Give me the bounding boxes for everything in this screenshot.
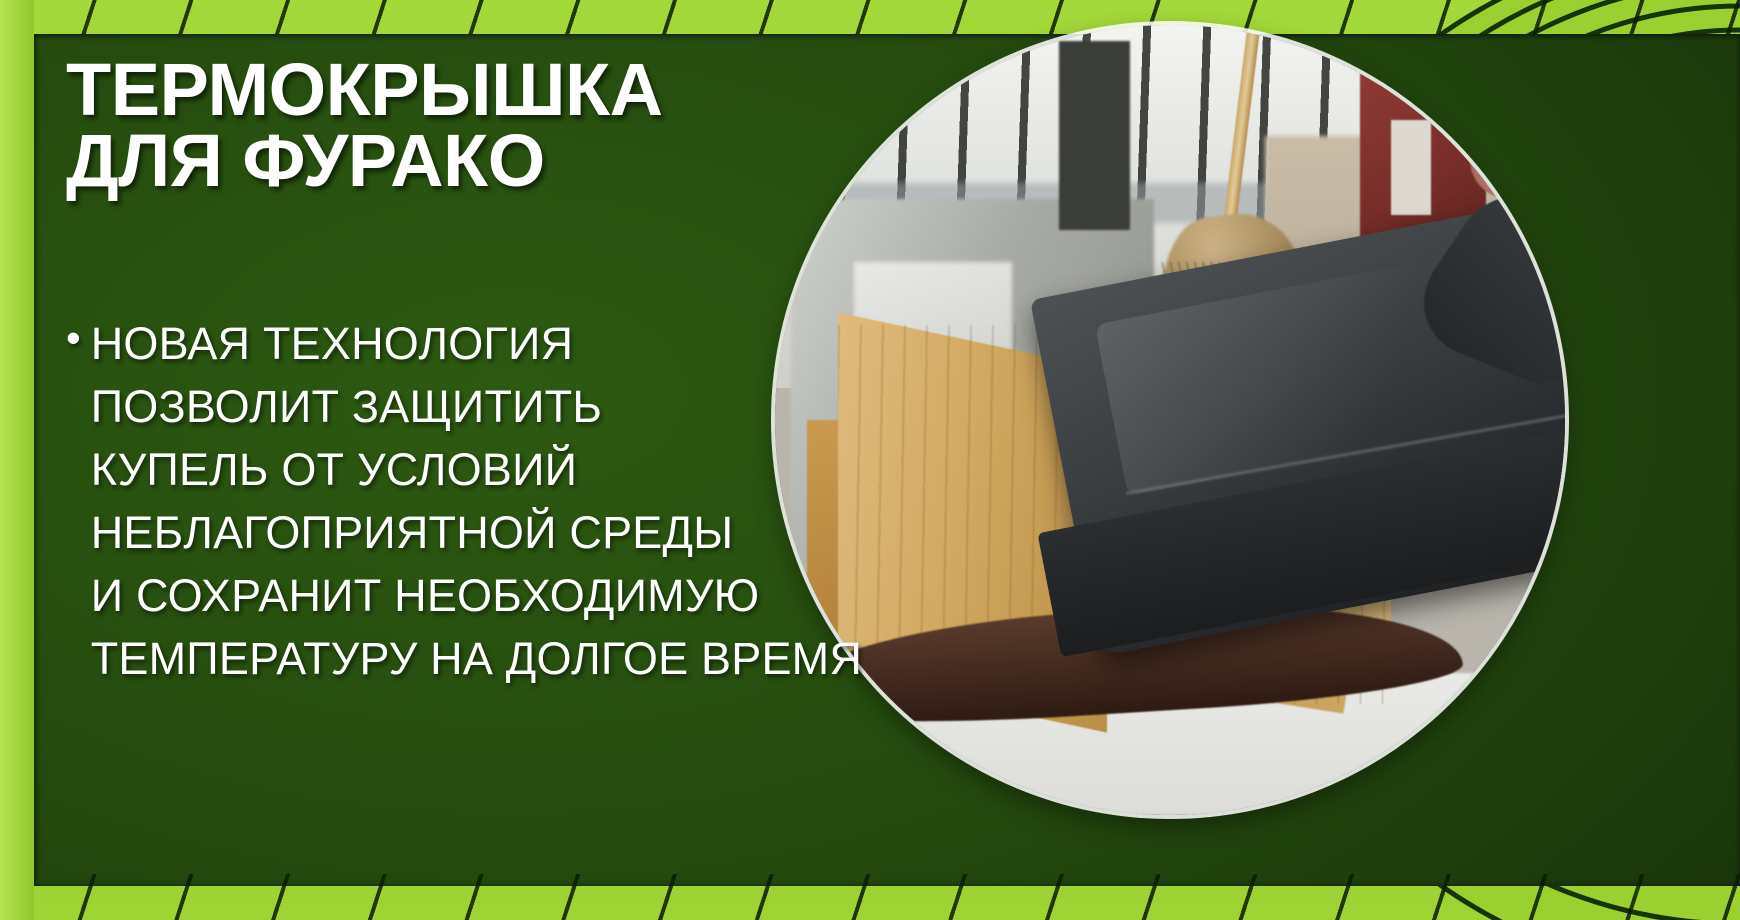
bullet-list: • НОВАЯ ТЕХНОЛОГИЯ ПОЗВОЛИТ ЗАЩИТИТЬ КУП… xyxy=(66,312,946,690)
text-column: ТЕРМОКРЫШКА ДЛЯ ФУРАКО • НОВАЯ ТЕХНОЛОГИ… xyxy=(66,40,946,690)
photo-red-cabinet-panel xyxy=(1391,120,1431,215)
frame-left-band xyxy=(0,0,34,920)
bullet-dot-icon: • xyxy=(66,312,81,364)
headline: ТЕРМОКРЫШКА ДЛЯ ФУРАКО xyxy=(66,54,946,196)
photo-dark-doorway xyxy=(1059,41,1130,231)
bullet-item: • НОВАЯ ТЕХНОЛОГИЯ ПОЗВОЛИТ ЗАЩИТИТЬ КУП… xyxy=(66,312,946,690)
bullet-item-text: НОВАЯ ТЕХНОЛОГИЯ ПОЗВОЛИТ ЗАЩИТИТЬ КУПЕЛ… xyxy=(91,312,862,690)
promo-banner: ТЕРМОКРЫШКА ДЛЯ ФУРАКО • НОВАЯ ТЕХНОЛОГИ… xyxy=(0,0,1740,920)
